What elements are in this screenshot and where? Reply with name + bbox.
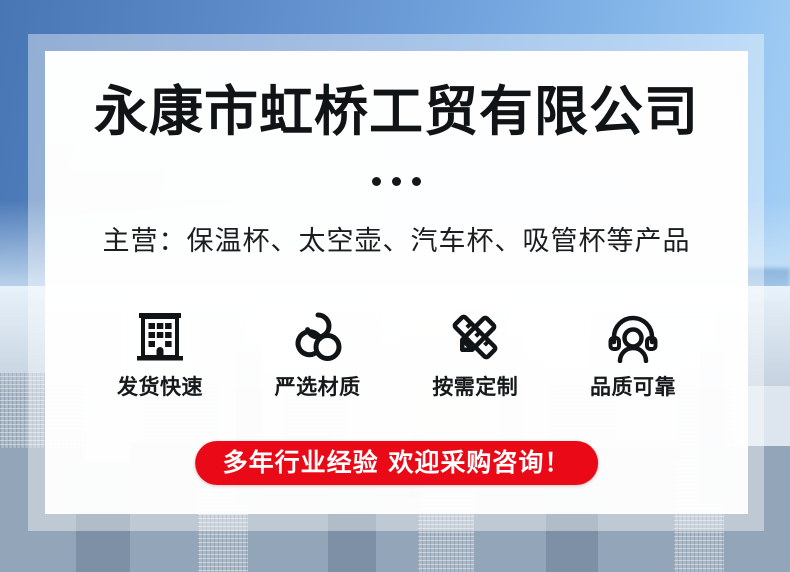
feature-item-selected-material[interactable]: 严选材质	[243, 309, 393, 400]
cta-label: 多年行业经验 欢迎采购咨询！	[223, 441, 571, 485]
feature-list: 发货快速 严选材质	[85, 309, 708, 400]
feature-label: 严选材质	[275, 374, 361, 400]
headset-support-icon	[607, 309, 659, 365]
feature-label: 品质可靠	[590, 374, 676, 400]
separator-dot	[392, 177, 401, 186]
feature-item-customization[interactable]: 按需定制	[400, 309, 550, 400]
main-products-subtitle: 主营：保温杯、太空壶、汽车杯、吸管杯等产品	[45, 224, 748, 260]
dots-separator	[45, 177, 748, 186]
separator-dot	[372, 177, 381, 186]
banner-content: 永康市虹桥工贸有限公司 主营：保温杯、太空壶、汽车杯、吸管杯等产品	[45, 51, 748, 514]
pencil-ruler-customize-icon	[448, 309, 502, 365]
banner-stage: 永康市虹桥工贸有限公司 主营：保温杯、太空壶、汽车杯、吸管杯等产品	[0, 0, 790, 572]
office-building-icon	[135, 309, 185, 365]
feature-label: 按需定制	[432, 374, 518, 400]
company-title: 永康市虹桥工贸有限公司	[45, 80, 748, 144]
feature-item-reliable-quality[interactable]: 品质可靠	[558, 309, 708, 400]
three-rings-material-icon	[292, 309, 344, 365]
separator-dot	[412, 177, 421, 186]
feature-item-fast-shipping[interactable]: 发货快速	[85, 309, 235, 400]
cta-button[interactable]: 多年行业经验 欢迎采购咨询！	[195, 441, 599, 485]
feature-label: 发货快速	[117, 374, 203, 400]
